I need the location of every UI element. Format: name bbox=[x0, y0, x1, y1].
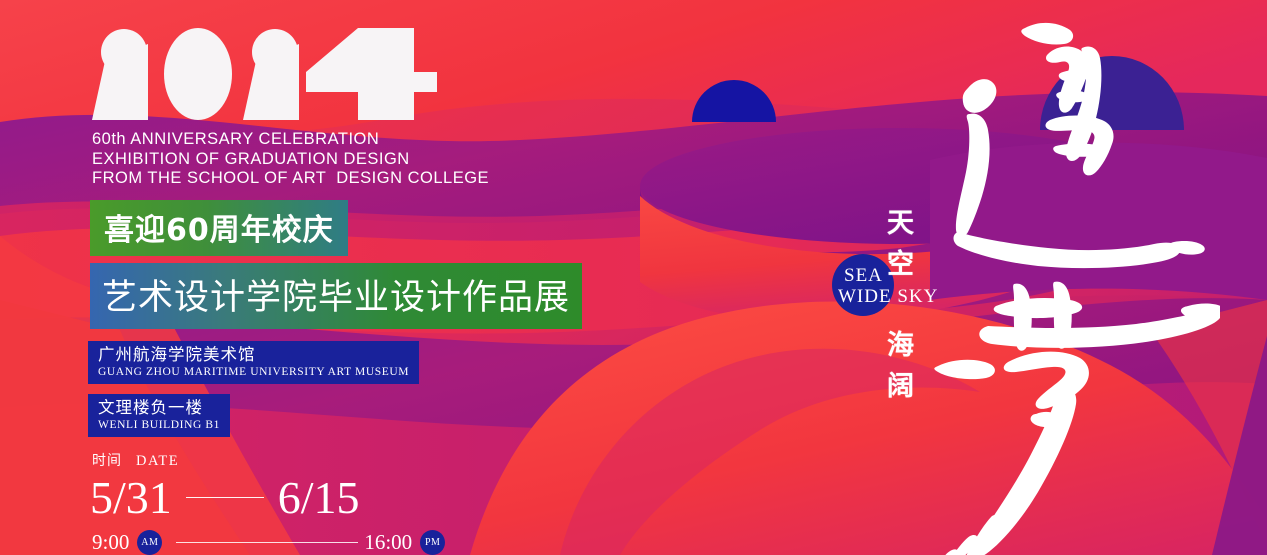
motto-vertical-sea: 海阔 bbox=[878, 330, 917, 412]
date-end: 6/15 bbox=[278, 472, 360, 524]
venue-building: 文理楼负一楼 WENLI BUILDING B1 bbox=[88, 394, 230, 437]
english-headline: 60th ANNIVERSARY CELEBRATION EXHIBITION … bbox=[92, 130, 708, 189]
date-label-row: 时间DATE bbox=[92, 450, 708, 470]
time-range-row: 9:00 AM 16:00 PM bbox=[92, 530, 708, 555]
date-label-en: DATE bbox=[136, 453, 179, 469]
date-range-divider bbox=[186, 497, 264, 499]
venue-museum-en: GUANG ZHOU MARITIME UNIVERSITY ART MUSEU… bbox=[98, 365, 409, 379]
venue-museum-cn: 广州航海学院美术馆 bbox=[98, 345, 409, 365]
headline-line-2: EXHIBITION OF GRADUATION DESIGN bbox=[92, 150, 708, 170]
time-start-period-badge: AM bbox=[137, 530, 162, 555]
time-range-divider bbox=[176, 542, 358, 543]
left-content-column: 60th ANNIVERSARY CELEBRATION EXHIBITION … bbox=[88, 28, 708, 555]
venue-building-cn: 文理楼负一楼 bbox=[98, 398, 220, 418]
anniversary-banner: 喜迎60周年校庆 bbox=[90, 200, 348, 256]
time-start: 9:00 bbox=[92, 530, 129, 555]
poster-canvas: 60th ANNIVERSARY CELEBRATION EXHIBITION … bbox=[0, 0, 1267, 555]
date-range-row: 5/31 6/15 bbox=[90, 472, 708, 524]
calligraphy-chase-dream bbox=[930, 10, 1220, 555]
time-end: 16:00 bbox=[364, 530, 412, 555]
headline-line-3: FROM THE SCHOOL OF ART DESIGN COLLEGE bbox=[92, 169, 708, 189]
date-start: 5/31 bbox=[90, 472, 172, 524]
venue-building-en: WENLI BUILDING B1 bbox=[98, 418, 220, 432]
date-label-cn: 时间 bbox=[92, 453, 122, 469]
time-end-period-badge: PM bbox=[420, 530, 445, 555]
exhibition-title-banner: 艺术设计学院毕业设计作品展 bbox=[90, 263, 582, 329]
headline-line-1: 60th ANNIVERSARY CELEBRATION bbox=[92, 130, 708, 150]
venue-museum: 广州航海学院美术馆 GUANG ZHOU MARITIME UNIVERSITY… bbox=[88, 341, 419, 384]
motto-vertical-sky: 天空 bbox=[878, 208, 917, 290]
year-2024-logo bbox=[92, 28, 444, 120]
